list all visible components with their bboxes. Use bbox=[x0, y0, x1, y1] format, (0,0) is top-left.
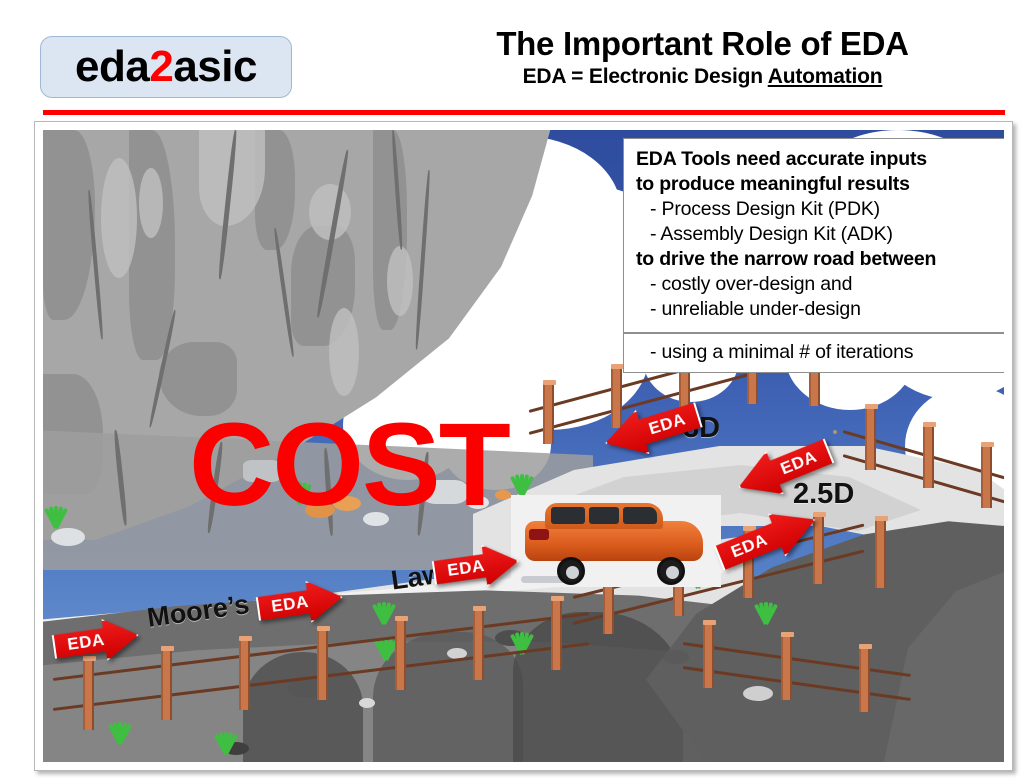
grass-tuft bbox=[371, 598, 397, 624]
car-illustration bbox=[511, 495, 721, 587]
grass-tuft bbox=[509, 470, 535, 496]
subtitle-underlined: Automation bbox=[768, 65, 883, 88]
fence-post bbox=[395, 620, 406, 690]
fence-post bbox=[923, 426, 934, 488]
fence-post bbox=[875, 520, 886, 588]
car-rear-window bbox=[551, 507, 585, 524]
rock-shade bbox=[129, 130, 175, 360]
stone bbox=[663, 650, 689, 664]
callout-line: - Process Design Kit (PDK) bbox=[636, 197, 997, 222]
eda2asic-logo[interactable]: eda2asic bbox=[40, 36, 292, 98]
eda-arrow-label: EDA bbox=[54, 618, 117, 668]
stone bbox=[51, 528, 85, 546]
eda-arrow-label: EDA bbox=[258, 580, 321, 630]
rock-highlight bbox=[101, 158, 137, 278]
illustration-frame: Moore’s Law 3D 2.5D EDA EDA EDA EDA bbox=[34, 121, 1013, 771]
fence-post bbox=[551, 600, 562, 670]
logo-text: eda2asic bbox=[75, 45, 257, 89]
car-wheel-rear bbox=[557, 557, 585, 585]
rock-highlight bbox=[139, 168, 163, 238]
fence-post bbox=[317, 630, 328, 700]
callout-line: - Assembly Design Kit (ADK) bbox=[636, 222, 997, 247]
callout-line: - using a minimal # of iterations bbox=[636, 340, 997, 365]
fence-post bbox=[83, 660, 94, 730]
stone bbox=[359, 698, 375, 708]
cliff-streak bbox=[243, 652, 363, 762]
logo-accent-digit: 2 bbox=[149, 42, 173, 91]
page-subtitle: EDA = Electronic Design Automation bbox=[390, 65, 1015, 89]
logo-suffix: asic bbox=[173, 42, 257, 91]
eda-arrow-label: EDA bbox=[434, 544, 497, 594]
callout-line: EDA Tools need accurate inputs bbox=[636, 147, 997, 172]
page-title: The Important Role of EDA bbox=[390, 26, 1015, 63]
fence-post bbox=[543, 384, 554, 444]
car-side-window-rear bbox=[589, 507, 619, 524]
slide-root: eda2asic The Important Role of EDA EDA =… bbox=[0, 0, 1024, 783]
fence-post bbox=[859, 648, 870, 712]
car-taillight bbox=[529, 529, 549, 540]
rock-highlight bbox=[329, 308, 359, 396]
subtitle-prefix: EDA = Electronic Design bbox=[523, 65, 768, 88]
title-block: The Important Role of EDA EDA = Electron… bbox=[390, 26, 1015, 89]
callout-line: - unreliable under-design bbox=[636, 297, 997, 322]
red-divider-rule bbox=[43, 110, 1005, 115]
fence-post bbox=[781, 636, 792, 700]
callout-line: to drive the narrow road between bbox=[636, 247, 997, 272]
fence-post bbox=[239, 640, 250, 710]
callout-line: to produce meaningful results bbox=[636, 172, 997, 197]
fence-post bbox=[473, 610, 484, 680]
car-wheel-front bbox=[657, 557, 685, 585]
rock-highlight bbox=[387, 246, 413, 316]
grass-tuft bbox=[107, 718, 133, 744]
fence-post bbox=[981, 446, 992, 508]
grass-tuft bbox=[213, 728, 239, 754]
callout-line: - costly over-design and bbox=[636, 272, 997, 297]
car-side-window-front bbox=[623, 507, 657, 524]
fence-post bbox=[161, 650, 172, 720]
star-icon bbox=[833, 430, 837, 434]
callout-box-extra: - using a minimal # of iterations bbox=[623, 333, 1004, 373]
grass-tuft bbox=[43, 502, 69, 528]
grass-tuft bbox=[753, 598, 779, 624]
fence-post bbox=[703, 624, 714, 688]
callout-box-main: EDA Tools need accurate inputs to produc… bbox=[623, 138, 1004, 333]
fence-post bbox=[865, 408, 876, 470]
stone bbox=[743, 686, 773, 701]
cost-headline: COST bbox=[189, 406, 509, 524]
scene: Moore’s Law 3D 2.5D EDA EDA EDA EDA bbox=[43, 130, 1004, 762]
logo-prefix: eda bbox=[75, 42, 149, 91]
